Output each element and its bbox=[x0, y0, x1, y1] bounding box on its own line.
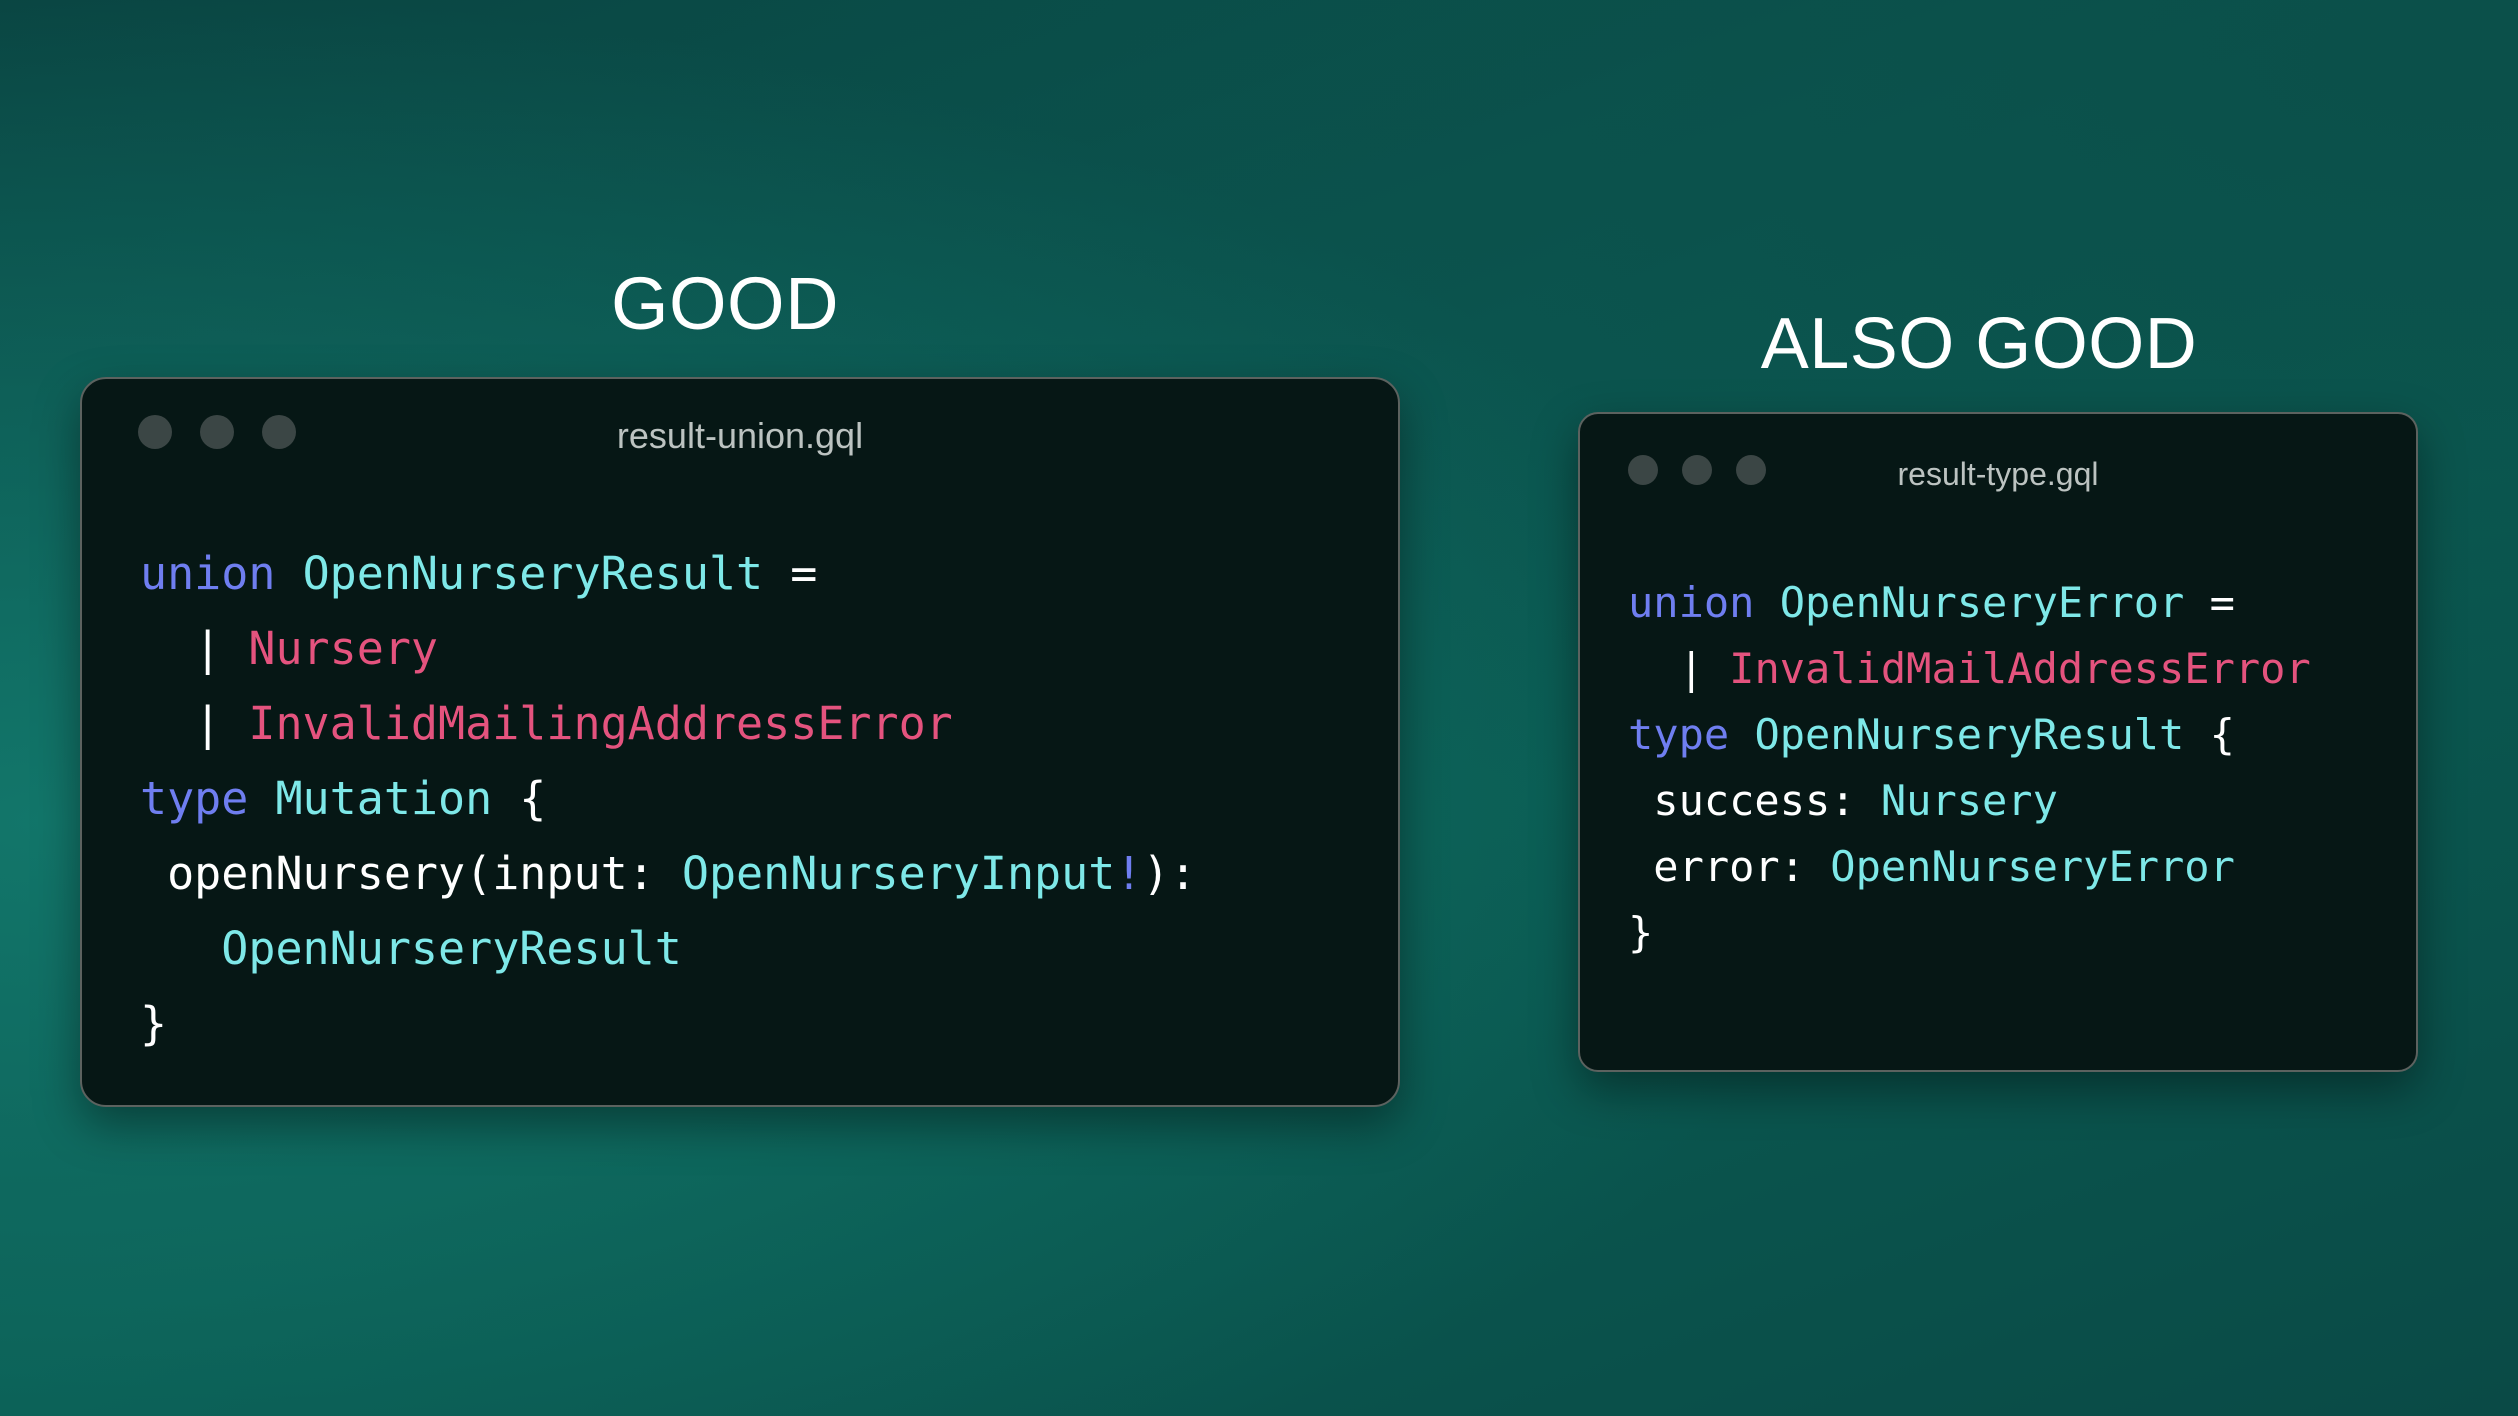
window-dot-minimize[interactable] bbox=[1682, 455, 1712, 485]
code-line: openNursery(input: OpenNurseryInput!): bbox=[140, 836, 1398, 911]
code-token: openNursery(input: bbox=[140, 847, 682, 900]
code-token: ! bbox=[1115, 847, 1142, 900]
code-line: OpenNurseryResult bbox=[140, 911, 1398, 986]
code-line: error: OpenNurseryError bbox=[1628, 834, 2416, 900]
code-line: success: Nursery bbox=[1628, 768, 2416, 834]
code-token: Mutation bbox=[275, 772, 492, 825]
code-line: | Nursery bbox=[140, 611, 1398, 686]
code-token: type bbox=[1628, 710, 1729, 759]
code-token: OpenNurseryInput bbox=[682, 847, 1115, 900]
code-token: | bbox=[140, 697, 248, 750]
code-block-also-good: union OpenNurseryError = | InvalidMailAd… bbox=[1580, 568, 2416, 966]
window-dot-maximize[interactable] bbox=[262, 415, 296, 449]
code-token: { bbox=[492, 772, 546, 825]
code-token: OpenNurseryResult bbox=[221, 922, 682, 975]
code-token: = bbox=[763, 547, 844, 600]
code-token: InvalidMailingAddressError bbox=[248, 697, 952, 750]
code-token: Nursery bbox=[1881, 776, 2058, 825]
code-line: } bbox=[1628, 900, 2416, 966]
code-token: ): bbox=[1142, 847, 1196, 900]
code-line: type OpenNurseryResult { bbox=[1628, 702, 2416, 768]
window-dot-close[interactable] bbox=[138, 415, 172, 449]
panel-also-good: ALSO GOOD result-type.gql union OpenNurs… bbox=[1440, 248, 2518, 1072]
code-token bbox=[275, 547, 302, 600]
code-token: | bbox=[140, 622, 248, 675]
code-token: Nursery bbox=[248, 622, 438, 675]
code-token: OpenNurseryResult bbox=[303, 547, 764, 600]
code-block-good: union OpenNurseryResult = | Nursery | In… bbox=[82, 530, 1398, 1061]
window-dot-maximize[interactable] bbox=[1736, 455, 1766, 485]
code-token bbox=[248, 772, 275, 825]
code-window-also-good-titlebar: result-type.gql bbox=[1580, 414, 2416, 526]
code-token: InvalidMailAddressError bbox=[1729, 644, 2311, 693]
code-line: } bbox=[140, 986, 1398, 1061]
code-token bbox=[140, 922, 221, 975]
panel-good-title: GOOD bbox=[0, 267, 1450, 341]
window-dot-minimize[interactable] bbox=[200, 415, 234, 449]
code-line: union OpenNurseryError = bbox=[1628, 570, 2416, 636]
code-window-good-titlebar: result-union.gql bbox=[82, 379, 1398, 485]
window-controls-good bbox=[138, 415, 296, 449]
code-token: success: bbox=[1628, 776, 1881, 825]
code-token: OpenNurseryError bbox=[1780, 578, 2185, 627]
code-token: { bbox=[2184, 710, 2235, 759]
code-token bbox=[1754, 578, 1779, 627]
window-controls-also-good bbox=[1628, 455, 1766, 485]
code-line: | InvalidMailingAddressError bbox=[140, 686, 1398, 761]
panel-also-good-title: ALSO GOOD bbox=[1440, 308, 2518, 380]
code-token: = bbox=[2184, 578, 2260, 627]
code-line: | InvalidMailAddressError bbox=[1628, 636, 2416, 702]
code-window-also-good: result-type.gql union OpenNurseryError =… bbox=[1578, 412, 2418, 1072]
code-token bbox=[1729, 710, 1754, 759]
code-token: type bbox=[140, 772, 248, 825]
slide-canvas: GOOD result-union.gql union OpenNurseryR… bbox=[0, 0, 2518, 1416]
code-token: } bbox=[1628, 908, 1653, 957]
code-line: union OpenNurseryResult = bbox=[140, 536, 1398, 611]
code-token: OpenNurseryError bbox=[1830, 842, 2235, 891]
code-token: OpenNurseryResult bbox=[1754, 710, 2184, 759]
panel-good: GOOD result-union.gql union OpenNurseryR… bbox=[0, 206, 1450, 1107]
code-window-good: result-union.gql union OpenNurseryResult… bbox=[80, 377, 1400, 1107]
code-token: error: bbox=[1628, 842, 1830, 891]
code-line: type Mutation { bbox=[140, 761, 1398, 836]
code-token: union bbox=[140, 547, 275, 600]
window-dot-close[interactable] bbox=[1628, 455, 1658, 485]
code-token: union bbox=[1628, 578, 1754, 627]
code-token: } bbox=[140, 997, 167, 1050]
code-token: | bbox=[1628, 644, 1729, 693]
